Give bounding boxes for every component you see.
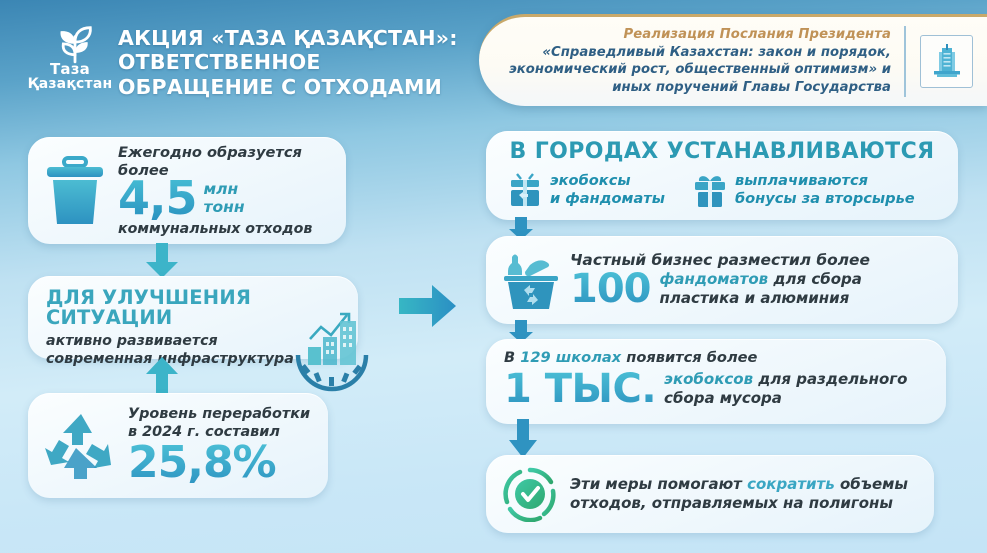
waste-text-block: Ежегодно образуется более 4,5 млн тонн к… <box>118 144 332 236</box>
recycling-rate-card: Уровень переработки в 2024 г. составил 2… <box>28 393 328 498</box>
cities-items-row: экобоксы и фандоматы выплачиваются бонус… <box>486 172 958 208</box>
result-summary-card: Эти меры помогают сократить объемы отход… <box>486 455 934 533</box>
result-text: Эти меры помогают сократить объемы отход… <box>570 475 922 514</box>
arrow-down-icon <box>145 243 179 279</box>
schools-plain2: сбора мусора <box>664 389 907 408</box>
cities-ecobox-line2: и фандоматы <box>550 190 665 208</box>
infrastructure-card: ДЛЯ УЛУЧШЕНИЯ СИТУАЦИИ активно развивает… <box>28 276 358 359</box>
ecobox-container-icon <box>508 172 542 208</box>
cities-bonus-line1: выплачиваются <box>735 172 915 190</box>
taza-kazakhstan-logo: Таза Қазақстан <box>26 22 114 104</box>
gift-box-icon <box>693 172 727 208</box>
cities-ecobox-line1: экобоксы <box>550 172 665 190</box>
infographic-canvas: Таза Қазақстан АКЦИЯ «ТАЗА ҚАЗАҚСТАН»: О… <box>0 0 987 553</box>
business-value: 100 <box>570 269 651 309</box>
waste-unit-line1: млн <box>204 181 245 198</box>
recycle-top-text: Уровень переработки в 2024 г. составил <box>128 406 316 441</box>
waste-bottom-text: коммунальных отходов <box>118 221 332 237</box>
recycle-value: 25,8% <box>128 441 316 485</box>
schools-count: 129 школах <box>520 349 621 366</box>
business-highlight: фандоматов <box>660 270 769 288</box>
business-plain1: для сбора <box>768 270 862 288</box>
government-building-icon <box>930 44 964 80</box>
logo-text-line1: Таза <box>28 62 113 77</box>
sprout-leaf-icon <box>48 22 102 64</box>
waste-value: 4,5 <box>118 177 197 219</box>
business-plain2: пластика и алюминия <box>660 289 862 308</box>
cities-item-ecobox: экобоксы и фандоматы <box>508 172 665 208</box>
recycling-symbol-icon <box>42 410 120 482</box>
recycle-basket-bottles-icon <box>500 249 562 311</box>
cities-label-ecobox: экобоксы и фандоматы <box>550 172 665 208</box>
banner-text-block: Реализация Послания Президента «Справедл… <box>496 26 906 96</box>
government-building-badge <box>920 35 973 88</box>
annual-waste-card: Ежегодно образуется более 4,5 млн тонн к… <box>28 137 346 244</box>
schools-ecobox-card: В 129 школах появится более 1 ТЫС. экобо… <box>486 339 946 424</box>
recycle-text-block: Уровень переработки в 2024 г. составил 2… <box>128 406 316 485</box>
schools-suffix: появится более <box>621 349 757 366</box>
banner-quote: «Справедливый Казахстан: закон и порядок… <box>496 44 891 97</box>
result-highlight: сократить <box>747 475 835 493</box>
schools-value: 1 ТЫС. <box>504 368 656 410</box>
private-business-card: Частный бизнес разместил более 100 фандо… <box>486 236 958 324</box>
schools-plain1: для раздельного <box>753 370 907 388</box>
arrow-up-icon <box>145 356 179 396</box>
arrow-down-icon <box>508 419 538 459</box>
schools-prefix: В <box>504 349 520 366</box>
cities-bonus-line2: бонусы за вторсырье <box>735 190 915 208</box>
president-address-banner: Реализация Послания Президента «Справедл… <box>479 14 987 106</box>
city-growth-gear-icon <box>284 299 380 395</box>
waste-unit-line2: тонн <box>204 199 245 216</box>
schools-line1: В 129 школах появится более <box>504 349 946 367</box>
business-text-block: Частный бизнес разместил более 100 фандо… <box>570 251 870 308</box>
trash-bin-icon <box>44 155 106 227</box>
arrow-right-icon <box>398 282 458 330</box>
page-title: АКЦИЯ «ТАЗА ҚАЗАҚСТАН»: ОТВЕТСТВЕННОЕ ОБ… <box>118 26 478 99</box>
cities-installations-card: В ГОРОДАХ УСТАНАВЛИВАЮТСЯ экобоксы и фан… <box>486 131 958 220</box>
schools-highlight: экобоксов <box>664 370 753 388</box>
banner-subtitle: Реализация Послания Президента <box>496 26 891 43</box>
cities-item-bonus: выплачиваются бонусы за вторсырье <box>693 172 915 208</box>
cities-label-bonus: выплачиваются бонусы за вторсырье <box>735 172 915 208</box>
cities-heading: В ГОРОДАХ УСТАНАВЛИВАЮТСЯ <box>486 140 958 163</box>
result-text-before: Эти меры помогают <box>570 475 747 493</box>
check-circle-icon <box>502 466 558 522</box>
logo-text-line2: Қазақстан <box>28 77 113 91</box>
